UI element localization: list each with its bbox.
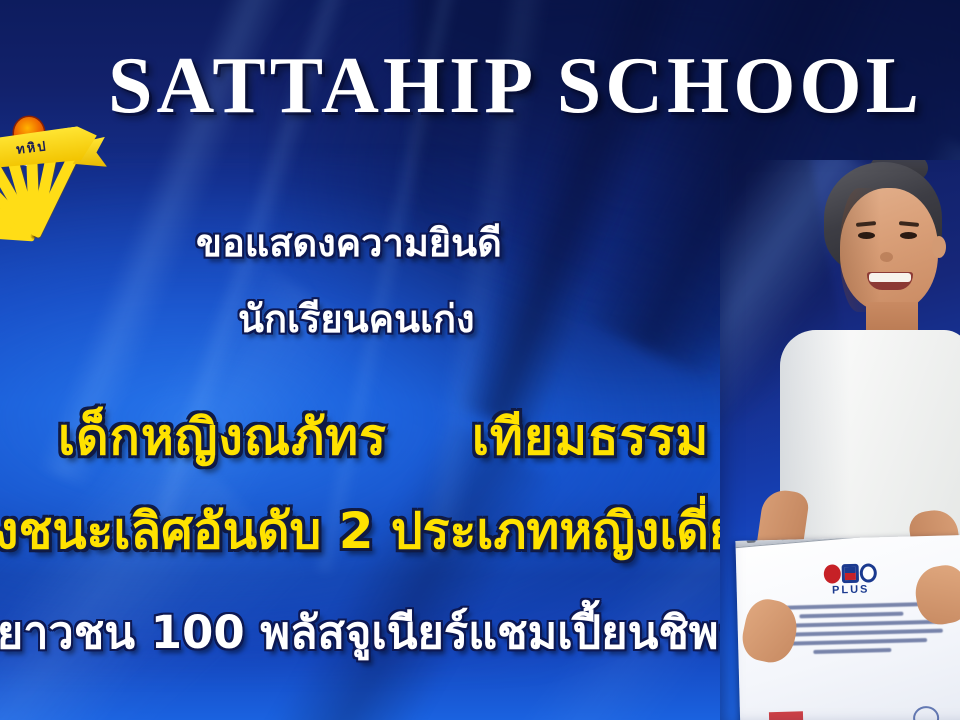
student-photo: PLUS <box>720 160 960 720</box>
student-label-line: นักเรียนคนเก่ง <box>238 288 475 349</box>
award-line: องชนะเลิศอันดับ 2 ประเภทหญิงเดี่ยว <box>0 492 766 571</box>
certificate-logo-label: PLUS <box>824 583 877 596</box>
student-last-name: เทียมธรรม <box>472 408 710 466</box>
ear <box>932 236 946 258</box>
sponsor-mark <box>769 711 804 720</box>
nose <box>880 252 893 262</box>
face-shading <box>840 188 880 312</box>
certificate-footer <box>740 705 960 720</box>
page-title: SATTAHIP SCHOOL <box>108 46 960 126</box>
teeth <box>869 273 911 282</box>
eye-right <box>900 232 917 239</box>
eye-left <box>858 232 875 239</box>
congratulations-line: ขอแสดงความยินดี <box>196 212 502 273</box>
certificate-logo: PLUS <box>824 563 878 596</box>
school-emblem-icon: ทหิป <box>0 0 104 197</box>
hundred-plus-logo-icon <box>824 563 877 583</box>
student-first-name: เด็กหญิงณภัทร <box>58 408 387 466</box>
signature-line <box>836 715 880 720</box>
seal-mark <box>913 706 940 720</box>
congratulation-banner: ทหิป SATTAHIP SCHOOL ขอแสดงความยินดี นัก… <box>0 0 960 720</box>
student-name-line: เด็กหญิงณภัทร เทียมธรรม <box>58 398 709 477</box>
mouth <box>867 272 913 290</box>
